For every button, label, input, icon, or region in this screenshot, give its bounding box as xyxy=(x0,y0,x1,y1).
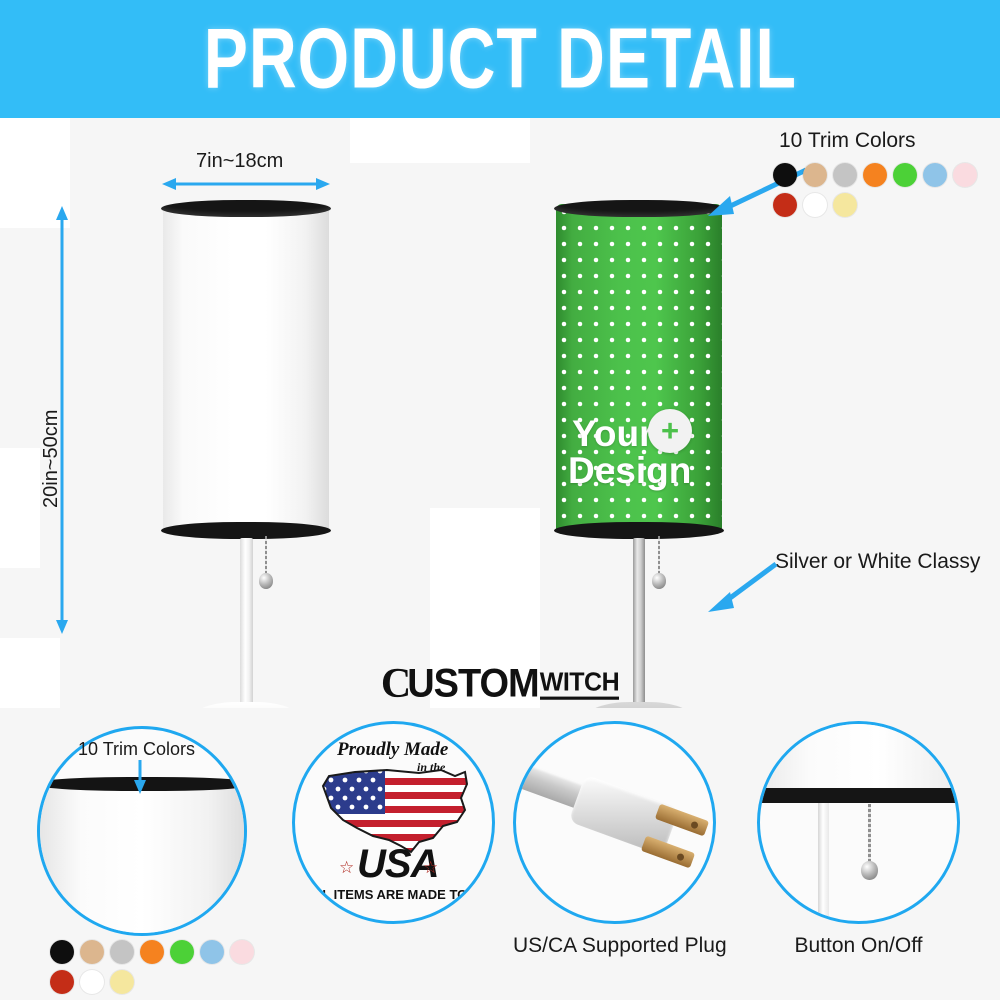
swatch-green[interactable] xyxy=(170,940,194,964)
width-dimension-label: 7in~18cm xyxy=(196,150,283,173)
base-finish-arrow xyxy=(700,558,782,616)
shade-closeup xyxy=(40,784,244,936)
swatch-black[interactable] xyxy=(50,940,74,964)
feature-trim-swatches[interactable] xyxy=(50,940,280,1000)
swatch-white[interactable] xyxy=(80,970,104,994)
feature-caption-switch: Button On/Off xyxy=(757,934,960,958)
swatch-gray[interactable] xyxy=(833,163,857,187)
brand-name-main: USTOM xyxy=(407,661,539,706)
swatch-orange[interactable] xyxy=(863,163,887,187)
swatch-white[interactable] xyxy=(803,193,827,217)
swatch-yellow[interactable] xyxy=(110,970,134,994)
pull-chain-custom[interactable] xyxy=(658,536,660,576)
trim-top-custom xyxy=(554,200,724,217)
swatch-green[interactable] xyxy=(893,163,917,187)
pull-chain-bead-plain[interactable] xyxy=(259,573,273,589)
feature-circle-switch xyxy=(757,721,960,924)
feature-strip: 10 Trim Colors Proudly Made in the xyxy=(0,708,1000,1000)
trim-bottom-custom xyxy=(554,522,724,539)
trim-top-plain xyxy=(161,200,331,217)
swatch-black[interactable] xyxy=(773,163,797,187)
width-dimension-arrow xyxy=(162,176,330,190)
swatch-tan[interactable] xyxy=(803,163,827,187)
pull-chain-plain[interactable] xyxy=(265,536,267,576)
background-wash xyxy=(0,448,40,568)
swatch-light-blue[interactable] xyxy=(923,163,947,187)
plug-prong-lower xyxy=(641,836,695,869)
trim-bottom-closeup xyxy=(757,788,960,803)
lampshade-surface xyxy=(163,204,329,534)
star-right-icon: ☆ xyxy=(423,858,438,878)
swatch-light-blue[interactable] xyxy=(200,940,224,964)
swatch-red[interactable] xyxy=(773,193,797,217)
feature-circle-plug xyxy=(513,721,716,924)
add-design-plus-icon[interactable]: + xyxy=(648,409,692,453)
pull-chain-bead-custom[interactable] xyxy=(652,573,666,589)
trim-colors-swatches[interactable] xyxy=(773,163,1000,223)
swatch-red[interactable] xyxy=(50,970,74,994)
brand-name-sub: WITCH xyxy=(540,668,619,700)
feature-circle-made-in-usa: Proudly Made in the xyxy=(292,721,495,924)
swatch-gray[interactable] xyxy=(110,940,134,964)
swatch-tan[interactable] xyxy=(80,940,104,964)
trim-colors-title: 10 Trim Colors xyxy=(779,129,916,153)
star-left-icon: ☆ xyxy=(339,858,354,878)
feature-trim-inner-label: 10 Trim Colors xyxy=(78,739,195,760)
base-finish-label: Silver or White Classy xyxy=(775,550,980,574)
product-stage: 7in~18cm 20in~50cm Your Des xyxy=(0,118,1000,708)
swatch-pink[interactable] xyxy=(230,940,254,964)
background-wash xyxy=(350,118,530,163)
feature-caption-plug: US/CA Supported Plug xyxy=(513,934,716,958)
design-text-line1: Your xyxy=(572,416,654,452)
trim-pointer-arrow xyxy=(132,760,148,794)
pull-chain-closeup[interactable] xyxy=(868,804,871,864)
lampshade-plain xyxy=(163,204,329,534)
pull-chain-bead-closeup[interactable] xyxy=(861,861,878,880)
lampshade-custom[interactable]: Your Design + xyxy=(556,204,722,534)
brand-logo: C USTOM WITCH xyxy=(0,660,1000,708)
swatch-pink[interactable] xyxy=(953,163,977,187)
height-dimension-arrow xyxy=(54,206,68,634)
usa-badge-line1: Proudly Made xyxy=(337,739,448,761)
page-title: PRODUCT DETAIL xyxy=(203,11,796,108)
design-text-line2: Design xyxy=(568,453,691,489)
shade-bottom-closeup xyxy=(760,724,957,796)
swatch-yellow[interactable] xyxy=(833,193,857,217)
swatch-orange[interactable] xyxy=(140,940,164,964)
trim-bottom-plain xyxy=(161,522,331,539)
lamp-pole-closeup xyxy=(818,803,829,924)
usa-badge-sub: ALL ITEMS ARE MADE TO ORDER! xyxy=(305,887,495,902)
header-banner: PRODUCT DETAIL xyxy=(0,0,1000,118)
